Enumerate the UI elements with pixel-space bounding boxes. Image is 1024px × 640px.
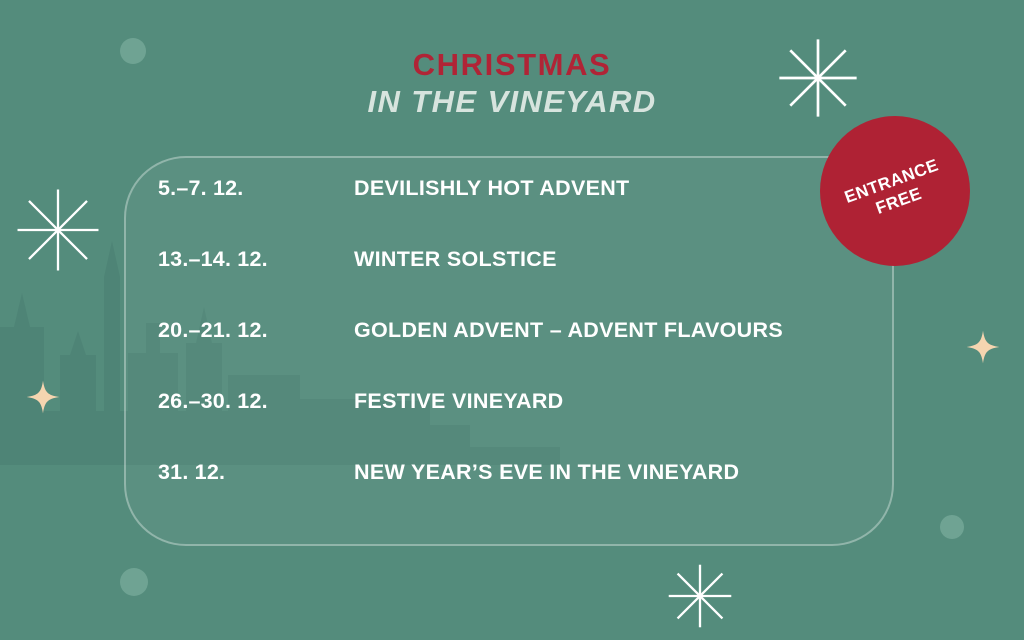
sparkle-icon bbox=[966, 330, 1000, 364]
schedule-row-title: FESTIVE VINEYARD bbox=[354, 389, 564, 414]
schedule-row-date: 5.–7. 12. bbox=[158, 176, 354, 201]
decorative-dot-bottom-left bbox=[120, 568, 148, 596]
schedule-row: 20.–21. 12. GOLDEN ADVENT – ADVENT FLAVO… bbox=[158, 318, 918, 389]
decorative-dot-bottom-right bbox=[940, 515, 964, 539]
schedule-row-date: 20.–21. 12. bbox=[158, 318, 354, 343]
schedule-row-date: 26.–30. 12. bbox=[158, 389, 354, 414]
entrance-free-badge-text: ENTRANCE FREE bbox=[841, 154, 948, 228]
schedule-row: 31. 12. NEW YEAR’S EVE IN THE VINEYARD bbox=[158, 460, 918, 531]
entrance-free-badge: ENTRANCE FREE bbox=[820, 116, 970, 266]
schedule-row-title: GOLDEN ADVENT – ADVENT FLAVOURS bbox=[354, 318, 783, 343]
star-burst-icon bbox=[666, 562, 734, 630]
christmas-vineyard-poster: CHRISTMAS IN THE VINEYARD 5.–7. 12. DEVI… bbox=[0, 0, 1024, 640]
schedule-row-date: 13.–14. 12. bbox=[158, 247, 354, 272]
poster-headline: CHRISTMAS IN THE VINEYARD bbox=[0, 48, 1024, 122]
schedule-list: 5.–7. 12. DEVILISHLY HOT ADVENT 13.–14. … bbox=[158, 176, 918, 531]
schedule-row-title: DEVILISHLY HOT ADVENT bbox=[354, 176, 630, 201]
schedule-row: 26.–30. 12. FESTIVE VINEYARD bbox=[158, 389, 918, 460]
star-burst-icon bbox=[14, 186, 102, 274]
schedule-row-date: 31. 12. bbox=[158, 460, 354, 485]
schedule-row: 13.–14. 12. WINTER SOLSTICE bbox=[158, 247, 918, 318]
page-subtitle: IN THE VINEYARD bbox=[0, 83, 1024, 122]
page-title: CHRISTMAS bbox=[0, 48, 1024, 81]
schedule-row: 5.–7. 12. DEVILISHLY HOT ADVENT bbox=[158, 176, 918, 247]
sparkle-icon bbox=[26, 380, 60, 414]
schedule-row-title: WINTER SOLSTICE bbox=[354, 247, 557, 272]
schedule-row-title: NEW YEAR’S EVE IN THE VINEYARD bbox=[354, 460, 739, 485]
